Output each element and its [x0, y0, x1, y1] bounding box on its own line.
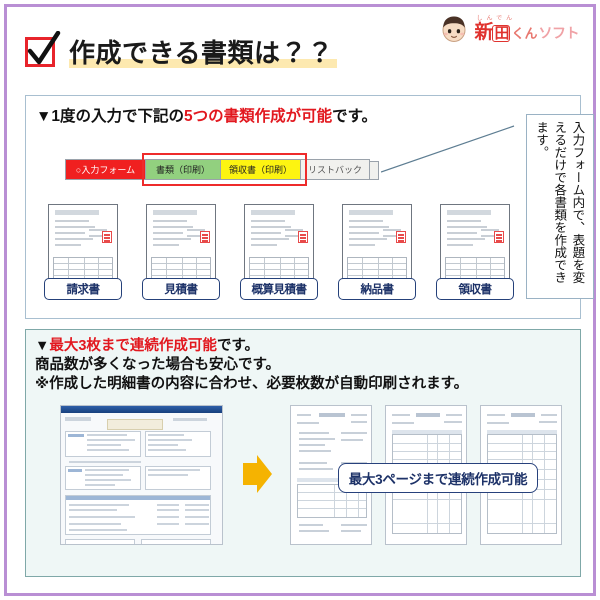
tab-highlight-box [142, 153, 307, 186]
document-item[interactable]: 納品書 [338, 204, 416, 300]
document-label: 納品書 [338, 278, 416, 300]
document-item[interactable]: 概算見積書 [240, 204, 318, 300]
tab-endcap [370, 161, 379, 180]
page-inner: 作成できる書類は？？ しんでん 新 田 [7, 7, 593, 593]
seal-stamp-icon [298, 231, 308, 243]
section1-heading: ▼1度の入力で下記の5つの書類作成が可能です。 [36, 104, 377, 126]
page-header: 作成できる書類は？？ しんでん 新 田 [7, 7, 593, 85]
section-multipage: ▼最大3枚まで連続作成可能です。 商品数が多くなった場合も安心です。 ※作成した… [25, 329, 581, 577]
brand-soft: ソフト [539, 26, 580, 40]
section2-line1: ▼最大3枚まで連続作成可能です。 [35, 337, 468, 356]
brand-ruby: しんでん [476, 16, 516, 22]
section2-line1-prefix: ▼ [35, 338, 49, 354]
section2-stage: 最大3ページまで連続作成可能 [35, 398, 571, 568]
document-label: 概算見積書 [240, 278, 318, 300]
document-thumbnails-row: 請求書 [44, 204, 514, 300]
document-item[interactable]: 領収書 [436, 204, 514, 300]
output-pages-group: 最大3ページまで連続作成可能 [290, 405, 562, 555]
callout-text: 入力フォーム内で、表題を変えるだけで各書類を作成できます。 [532, 121, 586, 292]
brand-main: 新 田 くん ソフト [474, 23, 579, 43]
callout-vertical-note: 入力フォーム内で、表題を変えるだけで各書類を作成できます。 [526, 114, 594, 299]
seal-stamp-icon [494, 231, 504, 243]
pages-caption: 最大3ページまで連続作成可能 [338, 463, 538, 493]
tab-list-back[interactable]: リストバック [300, 159, 370, 180]
input-form-screenshot[interactable] [60, 405, 223, 545]
callout-leader-line [381, 124, 516, 174]
brand-text: しんでん 新 田 くん ソフト [474, 16, 579, 43]
app-body [61, 413, 222, 544]
section2-textblock: ▼最大3枚まで連続作成可能です。 商品数が多くなった場合も安心です。 ※作成した… [35, 337, 468, 394]
brand-kanji-boxed: 田 [492, 25, 510, 43]
seal-stamp-icon [396, 231, 406, 243]
document-label: 請求書 [44, 278, 122, 300]
tab-input-form[interactable]: ○入力フォーム [65, 159, 145, 180]
title-row: 作成できる書類は？？ [25, 33, 333, 70]
seal-stamp-icon [102, 231, 112, 243]
checkmark-icon [25, 37, 55, 67]
document-table [445, 257, 505, 279]
section-documents: ▼1度の入力で下記の5つの書類作成が可能です。 ○入力フォーム 書類（印刷） 領… [25, 95, 581, 319]
document-table [347, 257, 407, 279]
page-title: 作成できる書類は？？ [69, 38, 333, 68]
brand-kanji-first: 新 [474, 23, 492, 42]
page-title-wrap: 作成できる書類は？？ [69, 33, 333, 70]
document-item[interactable]: 請求書 [44, 204, 122, 300]
document-item[interactable]: 見積書 [142, 204, 220, 300]
section2-line1-accent: 最大3枚まで連続作成可能 [49, 338, 217, 354]
seal-stamp-icon [200, 231, 210, 243]
section1-heading-prefix: ▼1度の入力で下記の [36, 108, 184, 125]
section1-heading-suffix: です。 [332, 108, 377, 125]
right-arrow-icon [240, 453, 274, 495]
section2-line1-suffix: です。 [217, 338, 259, 354]
brand-logo: しんでん 新 田 くん ソフト [439, 15, 579, 43]
document-table [151, 257, 211, 279]
page-frame: 作成できる書類は？？ しんでん 新 田 [4, 4, 596, 596]
section2-line3: ※作成した明細書の内容に合わせ、必要枚数が自動印刷されます。 [35, 375, 468, 394]
section2-line2: 商品数が多くなった場合も安心です。 [35, 356, 468, 375]
boy-face-icon [439, 15, 469, 43]
brand-kun: くん [511, 27, 537, 40]
section1-heading-accent: 5つの書類作成が可能 [184, 108, 332, 125]
document-table [53, 257, 113, 279]
document-label: 見積書 [142, 278, 220, 300]
document-label: 領収書 [436, 278, 514, 300]
document-table [249, 257, 309, 279]
app-titlebar [61, 406, 222, 413]
